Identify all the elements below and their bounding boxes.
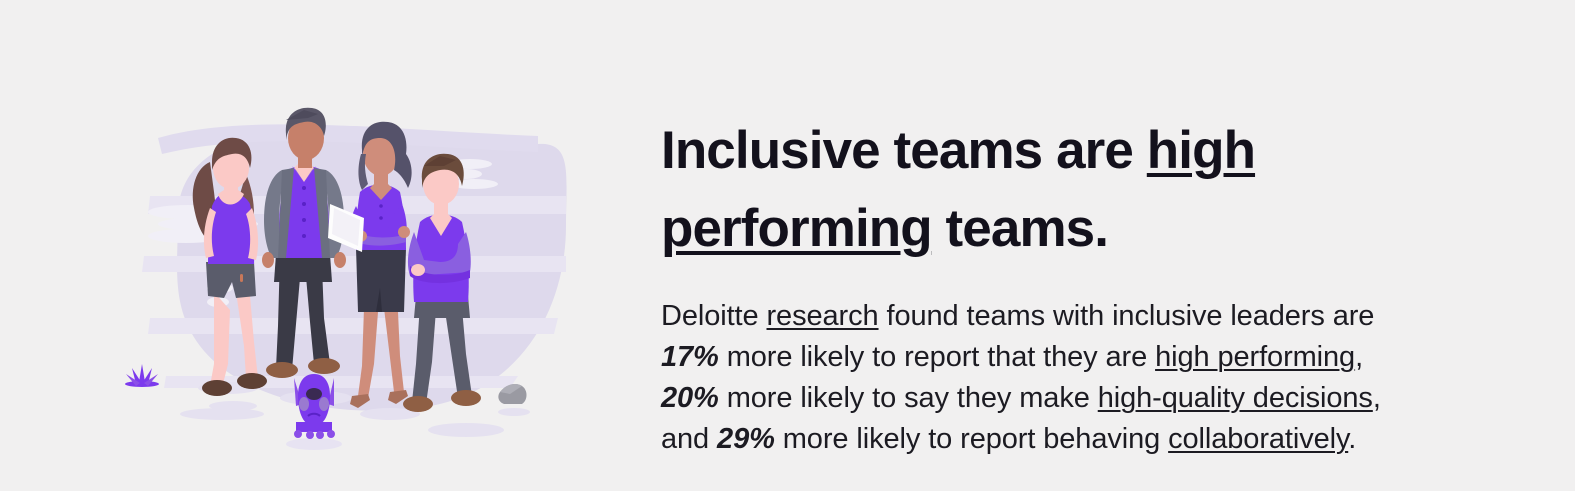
page-title: Inclusive teams are highperforming teams… [661,112,1521,269]
inline-link[interactable]: high-quality decisions [1098,382,1373,414]
paragraph-text: found teams with inclusive leaders are [879,300,1375,332]
paragraph-text: and [661,423,717,455]
paragraph-text: more likely to report that they are [719,341,1155,373]
inclusive-teams-banner: Inclusive teams are highperforming teams… [0,0,1575,491]
inline-link[interactable]: collaboratively [1168,423,1348,455]
text-content: Inclusive teams are highperforming teams… [661,112,1521,460]
purple-plant-icon [125,364,159,387]
headline-underlined-performing: performing [661,199,932,258]
stat-percent: 29% [717,423,775,455]
paragraph-line-3: 20% more likely to say they make high-qu… [661,378,1521,419]
body-paragraph: Deloitte research found teams with inclu… [661,296,1521,460]
paragraph-text: . [1348,423,1356,455]
team-illustration [118,96,618,456]
headline-line2-suffix: teams. [932,199,1108,258]
paragraph-text: , [1355,341,1363,373]
inline-link[interactable]: research [767,300,879,332]
paragraph-text: Deloitte [661,300,767,332]
paragraph-text: , [1373,382,1381,414]
paragraph-text: more likely to say they make [719,382,1098,414]
team-illustration-svg [118,96,618,456]
stat-percent: 17% [661,341,719,373]
paragraph-text: more likely to report behaving [775,423,1168,455]
stat-percent: 20% [661,382,719,414]
headline-line1-prefix: Inclusive teams are [661,121,1147,180]
inline-link[interactable]: high performing [1155,341,1355,373]
paragraph-line-2: 17% more likely to report that they are … [661,337,1521,378]
headline-underlined-high: high [1147,121,1255,180]
paragraph-line-4: and 29% more likely to report behaving c… [661,419,1521,460]
paragraph-line-1: Deloitte research found teams with inclu… [661,296,1521,337]
